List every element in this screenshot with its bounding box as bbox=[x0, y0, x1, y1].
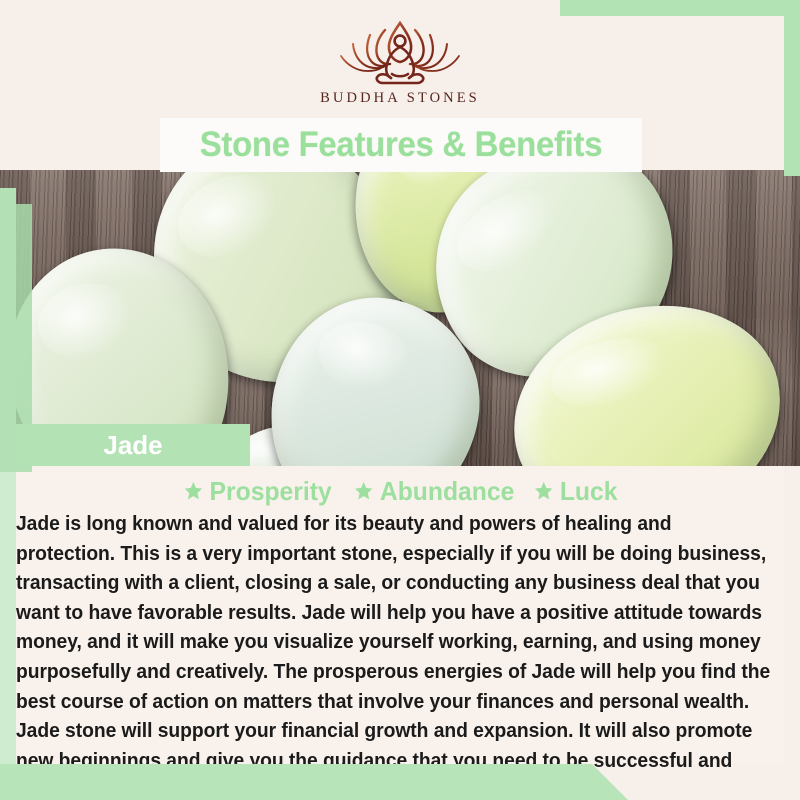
decorative-frame-left-lower bbox=[0, 472, 16, 772]
infographic-card: BUDDHA STONES Stone Features & Benefits … bbox=[0, 0, 800, 800]
stone-name-label: Jade bbox=[103, 430, 162, 461]
benefit-item: Prosperity bbox=[184, 476, 332, 507]
benefit-label: Prosperity bbox=[210, 476, 332, 507]
star-icon bbox=[184, 481, 203, 501]
lotus-meditation-icon bbox=[325, 14, 475, 86]
benefit-label: Luck bbox=[560, 476, 618, 507]
decorative-frame-left-bar bbox=[0, 188, 16, 472]
content-panel: Prosperity Abundance Luck Jade is long k… bbox=[16, 466, 784, 764]
benefit-item: Luck bbox=[534, 476, 617, 507]
stone-photo bbox=[0, 170, 800, 466]
benefit-item: Abundance bbox=[354, 476, 514, 507]
decorative-frame-right bbox=[784, 0, 800, 176]
brand-name: BUDDHA STONES bbox=[320, 90, 480, 107]
stone-name-badge: Jade bbox=[16, 424, 250, 466]
benefits-row: Prosperity Abundance Luck bbox=[16, 474, 784, 508]
brand-logo: BUDDHA STONES bbox=[0, 14, 800, 107]
card-header: BUDDHA STONES bbox=[0, 0, 800, 118]
star-icon bbox=[354, 481, 373, 501]
stone-description: Jade is long known and valued for its be… bbox=[16, 510, 770, 800]
star-icon bbox=[534, 481, 553, 501]
benefit-label: Abundance bbox=[380, 476, 514, 507]
decorative-frame-top-right bbox=[560, 0, 800, 16]
page-title: Stone Features & Benefits bbox=[174, 118, 627, 172]
